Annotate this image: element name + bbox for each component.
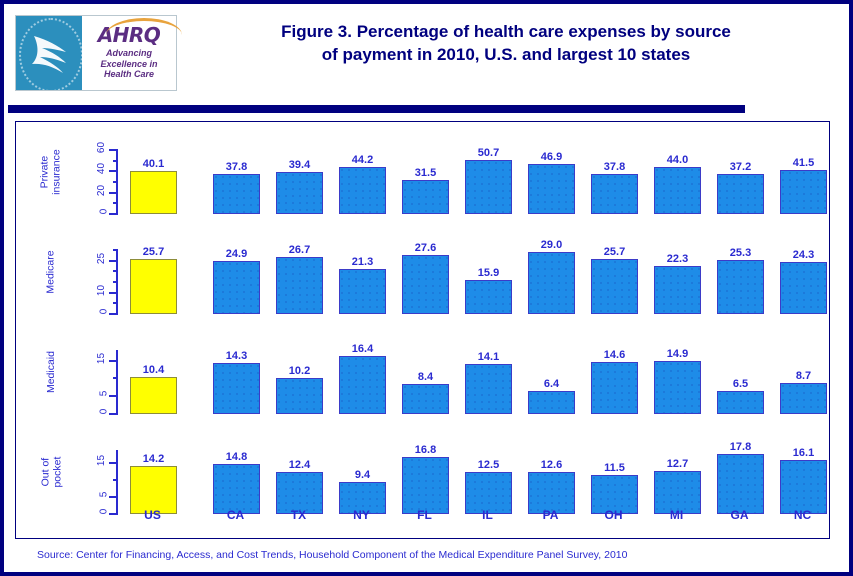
axis-tick-label-text: 0 bbox=[99, 309, 110, 315]
x-axis-label-mi: MI bbox=[647, 508, 706, 522]
axis-tick bbox=[109, 192, 118, 194]
bar-value-us: 25.7 bbox=[124, 246, 183, 258]
bar-value-nc: 41.5 bbox=[774, 157, 833, 169]
x-axis-labels: USCATXNYFLILPAOHMIGANC bbox=[119, 508, 819, 524]
bar-value-ga: 6.5 bbox=[711, 378, 770, 390]
bar-fl[interactable] bbox=[402, 457, 449, 514]
bar-tx[interactable] bbox=[276, 257, 323, 314]
y-axis-1: 01025 bbox=[88, 224, 118, 320]
row-label-private-insurance: Privateinsurance bbox=[38, 124, 64, 220]
bar-value-tx: 26.7 bbox=[270, 244, 329, 256]
axis-tick-label: 25 bbox=[96, 253, 107, 264]
bar-value-ca: 24.9 bbox=[207, 248, 266, 260]
axis-tick bbox=[109, 395, 118, 397]
plot-area-3: 14.214.812.49.416.812.512.611.512.717.81… bbox=[120, 424, 823, 520]
bar-value-mi: 14.9 bbox=[648, 348, 707, 360]
axis-tick-label-text: 15 bbox=[96, 455, 107, 466]
bar-value-tx: 10.2 bbox=[270, 365, 329, 377]
axis-tick bbox=[109, 513, 118, 515]
axis-tick-label-text: 20 bbox=[96, 185, 107, 196]
bar-value-ga: 25.3 bbox=[711, 247, 770, 259]
ahrq-tagline-line1: Advancing bbox=[100, 48, 157, 59]
bar-fl[interactable] bbox=[402, 255, 449, 314]
bar-il[interactable] bbox=[465, 160, 512, 214]
bar-value-tx: 12.4 bbox=[270, 459, 329, 471]
bar-value-us: 40.1 bbox=[124, 158, 183, 170]
axis-tick-label: 10 bbox=[96, 285, 107, 296]
plot-area-1: 25.724.926.721.327.615.929.025.722.325.3… bbox=[120, 224, 823, 320]
axis-tick-label-text: 0 bbox=[99, 509, 110, 515]
bar-value-oh: 37.8 bbox=[585, 161, 644, 173]
bar-ca[interactable] bbox=[213, 464, 260, 514]
axis-tick bbox=[109, 313, 118, 315]
x-axis-label-ny: NY bbox=[332, 508, 391, 522]
bar-value-il: 50.7 bbox=[459, 147, 518, 159]
bar-us[interactable] bbox=[130, 466, 177, 514]
row-label-text: Medicare bbox=[45, 250, 57, 293]
axis-tick bbox=[109, 260, 118, 262]
axis-tick-label: 5 bbox=[101, 489, 107, 500]
bar-ga[interactable] bbox=[717, 174, 764, 214]
bar-value-il: 14.1 bbox=[459, 351, 518, 363]
bar-fl[interactable] bbox=[402, 180, 449, 214]
bar-value-pa: 46.9 bbox=[522, 151, 581, 163]
axis-tick bbox=[109, 170, 118, 172]
bar-nc[interactable] bbox=[780, 383, 827, 414]
bar-value-fl: 16.8 bbox=[396, 444, 455, 456]
row-label-out-of-pocket: Out ofpocket bbox=[38, 424, 64, 520]
bar-mi[interactable] bbox=[654, 167, 701, 214]
bar-value-nc: 16.1 bbox=[774, 447, 833, 459]
ahrq-tagline: Advancing Excellence in Health Care bbox=[100, 48, 157, 80]
bar-nc[interactable] bbox=[780, 170, 827, 214]
axis-tick bbox=[109, 496, 118, 498]
seal-eagle-icon bbox=[28, 30, 72, 83]
bar-pa[interactable] bbox=[528, 252, 575, 314]
bar-ny[interactable] bbox=[339, 167, 386, 214]
bar-mi[interactable] bbox=[654, 361, 701, 414]
axis-tick-label: 0 bbox=[101, 206, 107, 217]
y-axis-0: 0204060 bbox=[88, 124, 118, 220]
axis-tick bbox=[113, 281, 118, 283]
chart-row-medicaid: Medicaid051510.414.310.216.48.414.16.414… bbox=[16, 324, 829, 420]
x-axis-label-oh: OH bbox=[584, 508, 643, 522]
axis-tick-label-text: 60 bbox=[96, 142, 107, 153]
x-axis-label-us: US bbox=[123, 508, 182, 522]
axis-tick-label-text: 0 bbox=[99, 409, 110, 415]
axis-tick-label: 15 bbox=[96, 455, 107, 466]
x-axis-label-ca: CA bbox=[206, 508, 265, 522]
bar-fl[interactable] bbox=[402, 384, 449, 414]
bar-value-pa: 6.4 bbox=[522, 378, 581, 390]
axis-tick bbox=[109, 213, 118, 215]
axis-tick bbox=[113, 479, 118, 481]
bar-nc[interactable] bbox=[780, 460, 827, 514]
bar-ny[interactable] bbox=[339, 269, 386, 314]
axis-tick-label: 15 bbox=[96, 353, 107, 364]
x-axis-label-ga: GA bbox=[710, 508, 769, 522]
row-label-text: Out ofpocket bbox=[39, 457, 63, 488]
axis-tick-label: 0 bbox=[101, 506, 107, 517]
axis-tick-label-text: 25 bbox=[96, 253, 107, 264]
bar-value-nc: 8.7 bbox=[774, 370, 833, 382]
bar-value-nc: 24.3 bbox=[774, 249, 833, 261]
axis-tick bbox=[113, 377, 118, 379]
axis-tick bbox=[109, 360, 118, 362]
axis-tick-label-text: 15 bbox=[96, 353, 107, 364]
axis-tick-label: 0 bbox=[101, 406, 107, 417]
bar-value-us: 14.2 bbox=[124, 453, 183, 465]
bar-value-ny: 44.2 bbox=[333, 154, 392, 166]
ahrq-wordmark-block: AHRQ Advancing Excellence in Health Care bbox=[82, 16, 176, 90]
bar-oh[interactable] bbox=[591, 174, 638, 214]
axis-tick-label-text: 40 bbox=[96, 163, 107, 174]
hhs-seal-icon bbox=[16, 16, 82, 90]
bar-tx[interactable] bbox=[276, 172, 323, 214]
figure-title: Figure 3. Percentage of health care expe… bbox=[186, 20, 826, 67]
axis-tick bbox=[113, 202, 118, 204]
axis-tick-label: 0 bbox=[101, 306, 107, 317]
bar-ga[interactable] bbox=[717, 454, 764, 514]
bar-value-ca: 14.8 bbox=[207, 451, 266, 463]
row-label-text: Privateinsurance bbox=[39, 149, 63, 195]
bar-tx[interactable] bbox=[276, 378, 323, 414]
bar-oh[interactable] bbox=[591, 362, 638, 414]
bar-value-oh: 11.5 bbox=[585, 462, 644, 474]
bar-value-pa: 12.6 bbox=[522, 459, 581, 471]
axis-tick-label: 60 bbox=[96, 142, 107, 153]
x-axis-label-pa: PA bbox=[521, 508, 580, 522]
bar-value-fl: 27.6 bbox=[396, 242, 455, 254]
bar-value-fl: 31.5 bbox=[396, 167, 455, 179]
plot-area-0: 40.137.839.444.231.550.746.937.844.037.2… bbox=[120, 124, 823, 220]
bar-value-us: 10.4 bbox=[124, 364, 183, 376]
chart-row-private-insurance: Privateinsurance020406040.137.839.444.23… bbox=[16, 124, 829, 220]
bar-value-ny: 21.3 bbox=[333, 256, 392, 268]
axis-tick bbox=[109, 292, 118, 294]
x-axis-label-il: IL bbox=[458, 508, 517, 522]
bar-value-il: 15.9 bbox=[459, 267, 518, 279]
axis-tick bbox=[113, 270, 118, 272]
bar-ny[interactable] bbox=[339, 356, 386, 414]
bar-us[interactable] bbox=[130, 377, 177, 414]
bar-ca[interactable] bbox=[213, 363, 260, 414]
axis-tick bbox=[113, 160, 118, 162]
bar-ga[interactable] bbox=[717, 260, 764, 314]
bar-value-tx: 39.4 bbox=[270, 159, 329, 171]
axis-tick bbox=[113, 181, 118, 183]
figure-title-line1: Figure 3. Percentage of health care expe… bbox=[186, 20, 826, 43]
bar-ca[interactable] bbox=[213, 261, 260, 314]
figure-header: AHRQ Advancing Excellence in Health Care… bbox=[4, 4, 849, 96]
bar-value-ga: 37.2 bbox=[711, 161, 770, 173]
axis-tick-label: 20 bbox=[96, 185, 107, 196]
axis-tick-label-text: 0 bbox=[99, 209, 110, 215]
bar-value-ga: 17.8 bbox=[711, 441, 770, 453]
axis-tick-label-text: 10 bbox=[96, 285, 107, 296]
bar-value-pa: 29.0 bbox=[522, 239, 581, 251]
bar-value-mi: 44.0 bbox=[648, 154, 707, 166]
bar-value-il: 12.5 bbox=[459, 459, 518, 471]
bar-us[interactable] bbox=[130, 259, 177, 314]
plot-area-2: 10.414.310.216.48.414.16.414.614.96.58.7 bbox=[120, 324, 823, 420]
ahrq-tagline-line3: Health Care bbox=[100, 69, 157, 80]
x-axis-label-tx: TX bbox=[269, 508, 328, 522]
source-note: Source: Center for Financing, Access, an… bbox=[37, 549, 827, 561]
chart-panel: Privateinsurance020406040.137.839.444.23… bbox=[15, 121, 830, 539]
bar-pa[interactable] bbox=[528, 391, 575, 414]
axis-tick bbox=[113, 249, 118, 251]
bar-value-ny: 9.4 bbox=[333, 469, 392, 481]
axis-tick bbox=[109, 462, 118, 464]
chart-row-out-of-pocket: Out ofpocket051514.214.812.49.416.812.51… bbox=[16, 424, 829, 520]
axis-line bbox=[116, 450, 118, 514]
axis-tick-label: 5 bbox=[101, 388, 107, 399]
bar-oh[interactable] bbox=[591, 259, 638, 314]
y-axis-2: 0515 bbox=[88, 324, 118, 420]
axis-tick bbox=[109, 149, 118, 151]
figure-title-line2: of payment in 2010, U.S. and largest 10 … bbox=[186, 43, 826, 66]
ahrq-tagline-line2: Excellence in bbox=[100, 59, 157, 70]
bar-value-ca: 14.3 bbox=[207, 350, 266, 362]
ahrq-wordmark: AHRQ bbox=[98, 25, 161, 45]
bar-value-mi: 22.3 bbox=[648, 253, 707, 265]
axis-tick-label: 40 bbox=[96, 163, 107, 174]
bar-us[interactable] bbox=[130, 171, 177, 214]
bar-value-fl: 8.4 bbox=[396, 371, 455, 383]
bar-value-oh: 14.6 bbox=[585, 349, 644, 361]
row-label-text: Medicaid bbox=[45, 351, 57, 393]
bar-ca[interactable] bbox=[213, 174, 260, 214]
bar-il[interactable] bbox=[465, 280, 512, 314]
y-axis-3: 0515 bbox=[88, 424, 118, 520]
row-label-medicare: Medicare bbox=[38, 224, 64, 320]
axis-tick bbox=[109, 413, 118, 415]
bar-mi[interactable] bbox=[654, 266, 701, 314]
x-axis-label-nc: NC bbox=[773, 508, 832, 522]
x-axis-label-fl: FL bbox=[395, 508, 454, 522]
bar-nc[interactable] bbox=[780, 262, 827, 314]
bar-value-ca: 37.8 bbox=[207, 161, 266, 173]
bar-ga[interactable] bbox=[717, 391, 764, 414]
chart-row-medicare: Medicare0102525.724.926.721.327.615.929.… bbox=[16, 224, 829, 320]
axis-tick bbox=[113, 302, 118, 304]
axis-tick-label-text: 5 bbox=[99, 391, 110, 397]
figure-page: AHRQ Advancing Excellence in Health Care… bbox=[0, 0, 853, 576]
bar-pa[interactable] bbox=[528, 164, 575, 214]
bar-value-oh: 25.7 bbox=[585, 246, 644, 258]
axis-tick-label-text: 5 bbox=[99, 492, 110, 498]
bar-il[interactable] bbox=[465, 364, 512, 414]
bar-value-mi: 12.7 bbox=[648, 458, 707, 470]
header-rule bbox=[8, 105, 745, 113]
row-label-medicaid: Medicaid bbox=[38, 324, 64, 420]
ahrq-logo: AHRQ Advancing Excellence in Health Care bbox=[15, 15, 177, 91]
ahrq-arc-icon bbox=[106, 18, 182, 35]
bar-value-ny: 16.4 bbox=[333, 343, 392, 355]
